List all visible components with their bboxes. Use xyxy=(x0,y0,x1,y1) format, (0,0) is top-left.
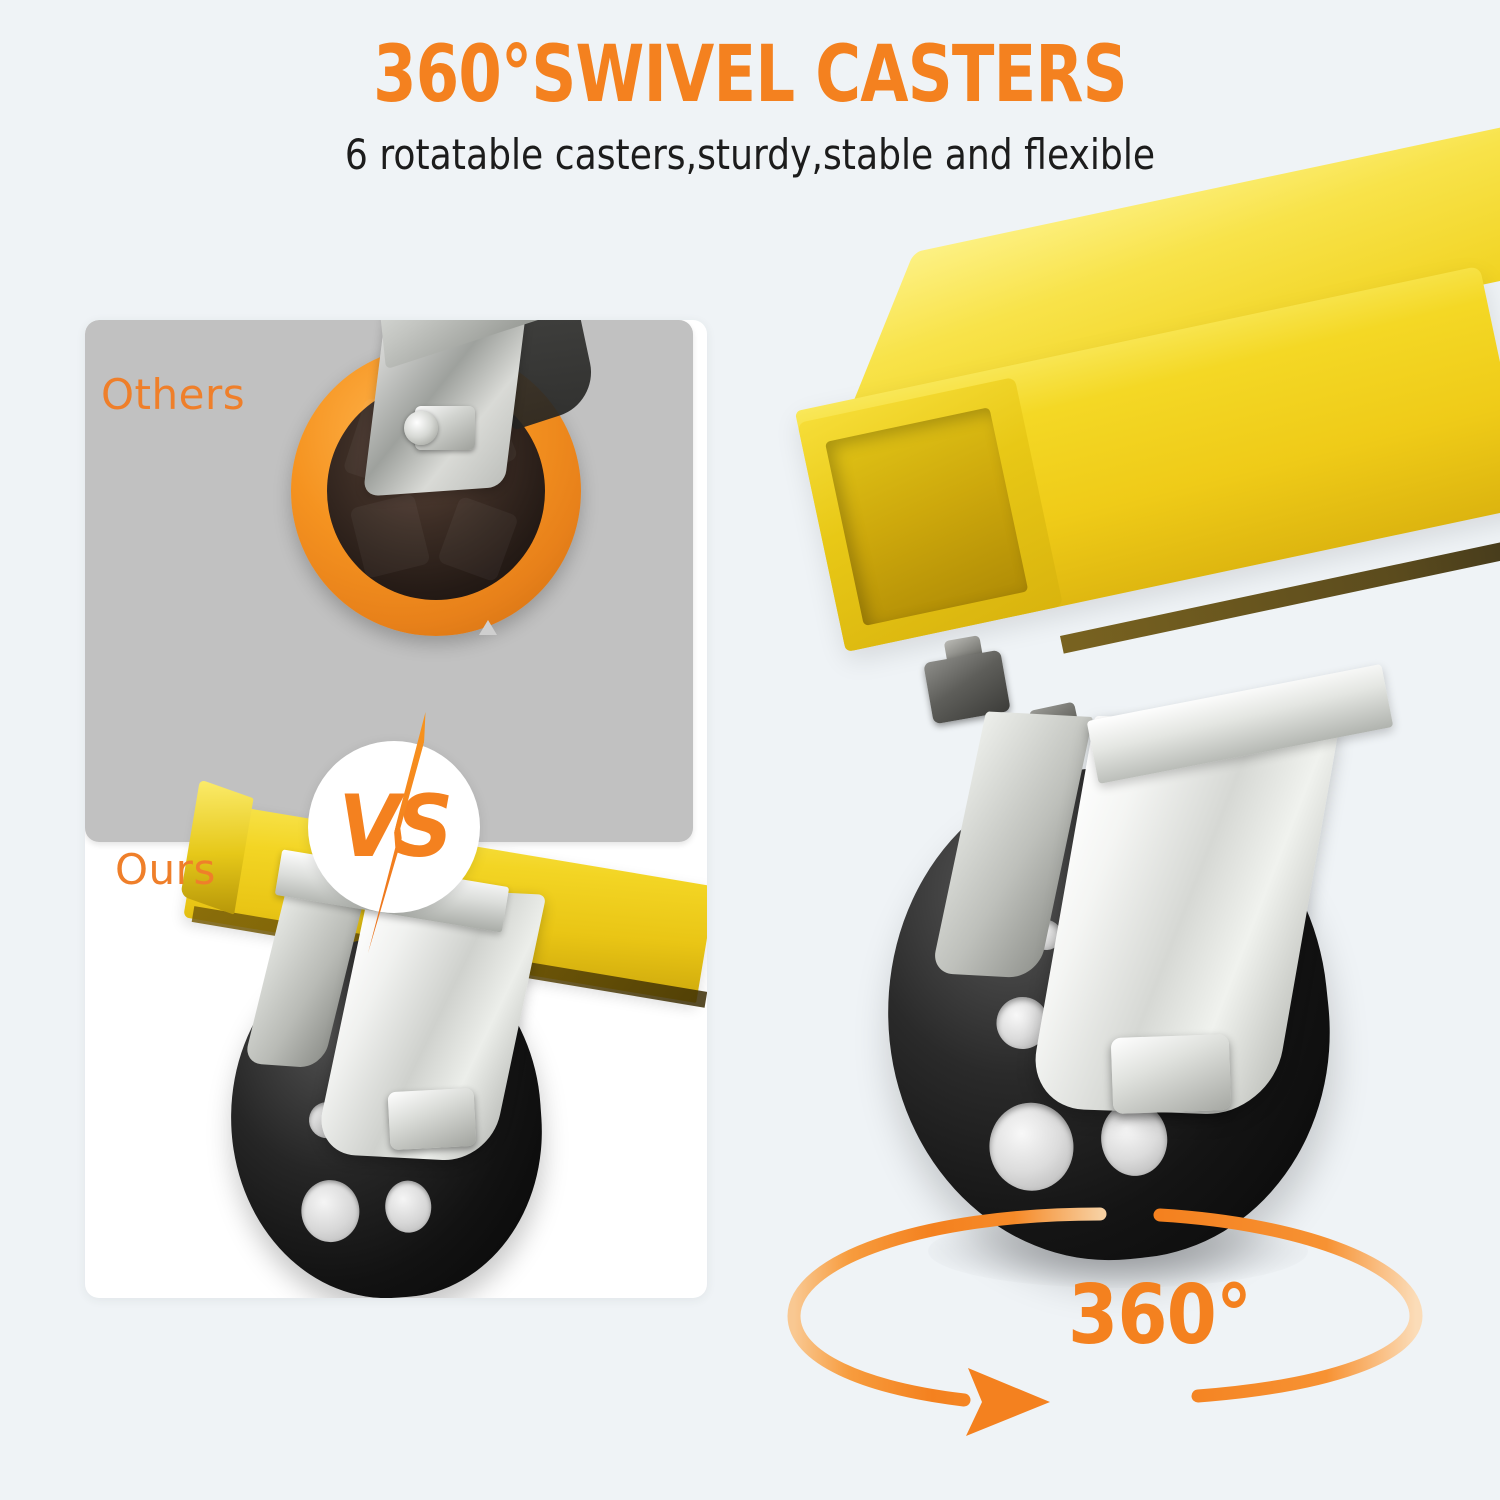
rotation-callout: 360° xyxy=(768,1190,1448,1460)
competitor-axle-cap xyxy=(404,411,438,445)
others-label: Others xyxy=(101,370,245,419)
ours-label: Ours xyxy=(115,845,216,894)
competitor-caster-photo xyxy=(263,320,593,646)
wheel-lightening-hole xyxy=(985,1099,1078,1195)
wheel-spoke xyxy=(437,496,519,583)
vs-label: VS xyxy=(315,741,473,913)
our-axle-hex-bolt xyxy=(388,1088,477,1150)
wheel-spoke xyxy=(349,493,430,579)
hero-axle-hex-bolt xyxy=(1111,1034,1232,1114)
product-feature-image: 360°SWIVEL CASTERS 6 rotatable casters,s… xyxy=(0,0,1500,1500)
rotation-degrees-label: 360° xyxy=(1068,1268,1251,1363)
vs-badge: VS xyxy=(308,741,480,913)
page-title: 360°SWIVEL CASTERS xyxy=(150,34,1350,116)
wheel-lightening-hole xyxy=(383,1179,433,1234)
wheel-lightening-hole xyxy=(299,1178,361,1244)
wheel-marking-arrow-icon xyxy=(479,620,497,635)
